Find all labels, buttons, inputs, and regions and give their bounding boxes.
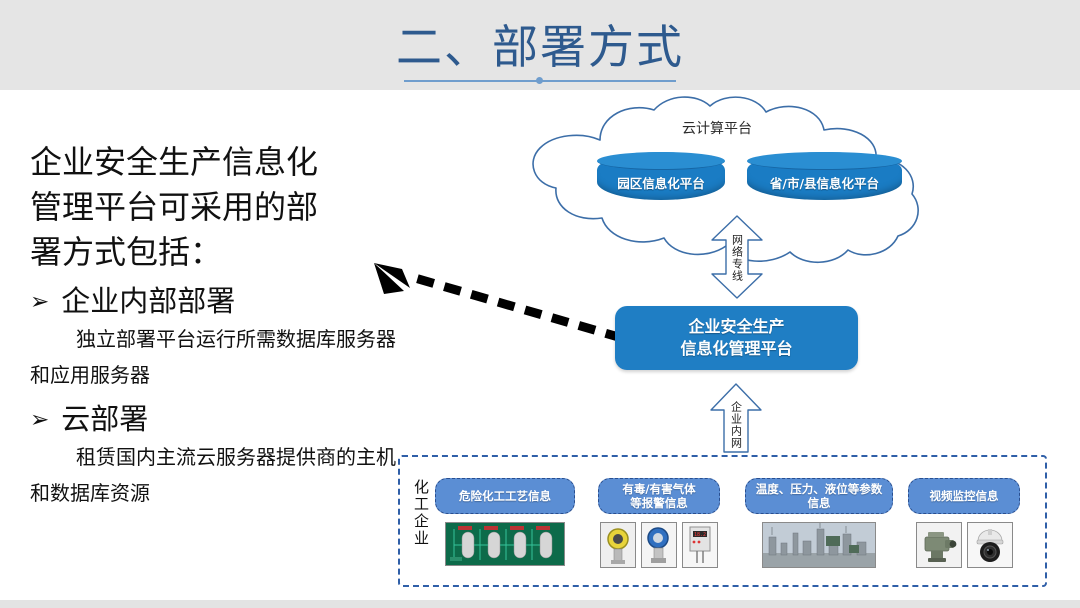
- network-link-label-wrap: 网络专线: [706, 226, 768, 290]
- bullet-item-onprem: ➢ 企业内部部署: [30, 281, 400, 321]
- category-process-info[interactable]: 危险化工工艺信息: [435, 478, 575, 566]
- lead-line-3: 署方式包括：: [30, 230, 400, 275]
- bullet-arrow-icon: ➢: [30, 408, 49, 431]
- scada-screen-thumb: [445, 522, 565, 566]
- category-chip-line-2: 信息: [808, 496, 831, 510]
- cylinder-label: 园区信息化平台: [597, 173, 725, 192]
- bullet-label-onprem: 企业内部部署: [61, 281, 235, 321]
- cylinder-label: 省/市/县信息化平台: [747, 173, 902, 192]
- category-thumbnails: 18.2: [598, 522, 720, 568]
- category-chip-label: 温度、压力、液位等参数 信息: [745, 478, 893, 514]
- bullet-arrow-icon: ➢: [30, 290, 49, 313]
- category-chip-label: 视频监控信息: [908, 478, 1020, 514]
- gas-detector-yellow-thumb: [600, 522, 636, 568]
- bullet-detail-cloud: 租赁国内主流云服务器提供商的主机和数据库资源: [30, 439, 400, 511]
- category-thumbnails: [908, 522, 1020, 568]
- platform-line-1: 企业安全生产: [688, 316, 784, 338]
- category-video-surveillance-info[interactable]: 视频监控信息: [908, 478, 1020, 568]
- gas-detector-icon: [642, 523, 676, 567]
- alarm-controller-thumb: 18.2: [682, 522, 718, 568]
- ptz-camera-icon: [917, 523, 961, 567]
- cylinder-gov-platform: 省/市/县信息化平台: [747, 152, 902, 200]
- alarm-controller-icon: 18.2: [683, 523, 717, 567]
- category-chip-line-1: 温度、压力、液位等参数: [756, 482, 883, 496]
- category-chip-line-2: 等报警信息: [630, 496, 688, 510]
- lead-line-2: 管理平台可采用的部: [30, 185, 400, 230]
- intranet-label: 企业内网: [731, 401, 742, 449]
- category-chip-label: 危险化工工艺信息: [435, 478, 575, 514]
- gas-detector-blue-thumb: [641, 522, 677, 568]
- category-thumbnails: [745, 522, 893, 568]
- category-gas-alarm-info[interactable]: 有毒/有害气体 等报警信息: [598, 478, 720, 568]
- dome-camera-icon: [968, 523, 1012, 567]
- bullet-detail-onprem: 独立部署平台运行所需数据库服务器和应用服务器: [30, 321, 400, 393]
- category-chip-line-1: 有毒/有害气体: [622, 482, 695, 496]
- title-underline-dot: [536, 77, 543, 84]
- bullet-label-cloud: 云部署: [61, 399, 148, 439]
- svg-text:18.2: 18.2: [694, 532, 706, 538]
- enterprise-vertical-label: 化工企业: [413, 479, 429, 547]
- enterprise-vertical-label-wrap: 化工企业: [408, 478, 434, 548]
- cylinder-top-cap: [597, 152, 725, 170]
- dome-camera-thumb: [967, 522, 1013, 568]
- category-parameter-info[interactable]: 温度、压力、液位等参数 信息: [745, 478, 893, 568]
- ptz-camera-thumb: [916, 522, 962, 568]
- cloud-label: 云计算平台: [482, 118, 952, 138]
- lead-line-1: 企业安全生产信息化: [30, 140, 400, 185]
- page-title: 二、部署方式: [0, 22, 1080, 72]
- cylinder-top-cap: [747, 152, 902, 170]
- intranet-label-wrap: 企业内网: [706, 398, 766, 452]
- scada-screen-icon: [446, 523, 564, 565]
- platform-line-2: 信息化管理平台: [680, 338, 792, 360]
- gas-detector-icon: [601, 523, 635, 567]
- chemical-plant-icon: [763, 523, 875, 567]
- bullet-item-cloud: ➢ 云部署: [30, 399, 400, 439]
- left-text-column: 企业安全生产信息化 管理平台可采用的部 署方式包括： ➢ 企业内部部署 独立部署…: [30, 140, 400, 511]
- footer-band: [0, 600, 1080, 608]
- network-link-label: 网络专线: [732, 234, 743, 282]
- chemical-plant-photo-thumb: [762, 522, 876, 568]
- category-thumbnails: [435, 522, 575, 566]
- category-chip-label: 有毒/有害气体 等报警信息: [598, 478, 720, 514]
- enterprise-platform-box[interactable]: 企业安全生产 信息化管理平台: [615, 306, 858, 370]
- cylinder-park-platform: 园区信息化平台: [597, 152, 725, 200]
